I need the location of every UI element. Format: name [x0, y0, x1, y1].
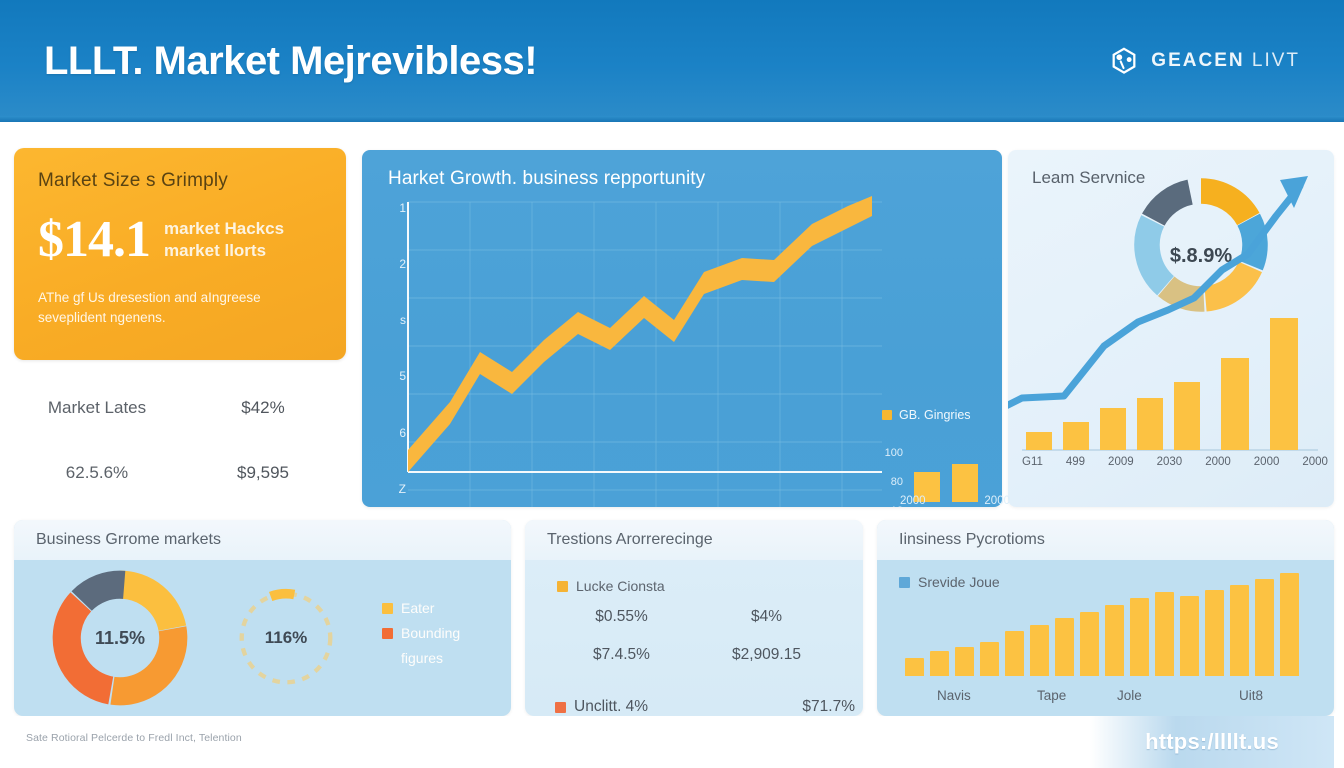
growth-bars-trendline-chart	[1008, 150, 1334, 507]
footer-url-text: https:/llllt.us	[1145, 729, 1279, 755]
stat-value-1: $9,595	[180, 463, 346, 483]
projections-bar-group-left	[905, 576, 1174, 676]
brand-primary: GEACEN	[1151, 50, 1244, 71]
projections-bar-3	[980, 642, 999, 676]
kpi-subtext-line-1: market Hackcs	[164, 218, 284, 240]
transactions-value-0: $0.55%	[595, 608, 648, 626]
kpi-subtext: market Hackcs market llorts	[164, 218, 284, 263]
page-header: LLLT. Market Mejrevibless! GEACEN LIVT	[0, 0, 1344, 122]
business-growth-legend: Eater Bounding figures	[382, 600, 460, 666]
y-tick-5: Z	[399, 483, 406, 495]
projections-card: Iinsiness Pycrotioms Srevide Joue	[877, 520, 1334, 716]
y-tick-1: 2	[399, 258, 406, 270]
transactions-card-body: Lucke Cionsta $0.55% $4% $7.4.5% $2,909.…	[525, 560, 863, 716]
projections-bar-9	[1130, 598, 1149, 676]
projections-bar-14	[1230, 585, 1249, 676]
legend-item-eater[interactable]: Eater	[382, 600, 460, 616]
projections-card-body: Srevide Joue	[877, 560, 1334, 716]
kpi-description: AThe gf Us dresestion and aIngreese seve…	[38, 288, 322, 327]
legend-label-bounding: Bounding	[401, 625, 460, 641]
brand-secondary: LIVT	[1252, 50, 1300, 71]
projections-bar-16	[1280, 573, 1299, 676]
stat-value-0: $42%	[180, 398, 346, 418]
legend-label-eater: Eater	[401, 600, 434, 616]
legend-swatch-eater-icon	[382, 603, 393, 614]
projections-x-tick-3: Uit8	[1239, 688, 1263, 703]
legend-swatch-icon	[882, 410, 892, 420]
projections-bar-5	[1030, 625, 1049, 676]
projections-bar-4	[1005, 631, 1024, 676]
projections-bar-15	[1255, 579, 1274, 676]
transactions-legend-swatch-icon	[557, 581, 568, 592]
inset-y-tick-0: 100	[885, 448, 903, 459]
projections-bar-13	[1205, 590, 1224, 676]
transactions-legend-item[interactable]: Lucke Cionsta	[557, 578, 665, 594]
bar-x-tick-5: 2030	[1157, 456, 1183, 468]
business-growth-donut-center-label: 11.5%	[46, 628, 194, 649]
inset-y-axis: 100 80 12 10 4 8 0	[867, 448, 903, 507]
stat-label-1: 62.5.6%	[14, 463, 180, 483]
growth-bars-overflow-labels: 2000 2000	[900, 495, 1010, 507]
y-tick-3: 5	[399, 370, 406, 382]
transactions-footer-legend[interactable]: Unclitt. 4%	[555, 698, 648, 716]
infographic-page: LLLT. Market Mejrevibless! GEACEN LIVT M…	[0, 0, 1344, 768]
legend-item-figures: figures	[382, 650, 460, 666]
market-size-kpi-card: Market Size s Grimply $14.1 market Hackc…	[14, 148, 346, 360]
transactions-footer-value: $71.7%	[802, 698, 855, 716]
transactions-value-2: $7.4.5%	[593, 646, 650, 664]
page-footer: Sate Rotioral Pelcerde to Fredl Inct, Te…	[0, 716, 1344, 768]
projections-x-tick-0: Navis	[937, 688, 971, 703]
footer-note: Sate Rotioral Pelcerde to Fredl Inct, Te…	[26, 732, 242, 744]
projections-bar-0	[905, 658, 924, 676]
legend-label-figures: figures	[401, 650, 443, 666]
projections-bar-6	[1055, 618, 1074, 676]
business-growth-card: Business Grrome markets 11.5% 116%	[14, 520, 511, 716]
bar-x-tick-2: G11	[1022, 456, 1043, 468]
market-growth-y-axis: 1 2 s 5 6 Z 8 0	[380, 202, 406, 507]
projections-bar-11	[1155, 603, 1174, 676]
y-tick-0: 1	[399, 202, 406, 214]
projections-x-axis: Navis Tape Jole Uit8	[909, 688, 1319, 704]
y-tick-2: s	[400, 314, 406, 326]
stat-label-0: Market Lates	[14, 398, 180, 418]
bar-x-tick-1: 2000	[984, 495, 1010, 507]
projections-x-tick-1: Tape	[1037, 688, 1066, 703]
projections-bar-2	[955, 647, 974, 676]
page-title: LLLT. Market Mejrevibless!	[44, 39, 537, 84]
brand-name: GEACEN LIVT	[1151, 50, 1300, 72]
transactions-footer-swatch-icon	[555, 702, 566, 713]
projections-bar-1	[930, 651, 949, 676]
transactions-value-3: $2,909.15	[732, 646, 801, 664]
transactions-footer-row: Unclitt. 4% $71.7%	[555, 698, 855, 716]
bar-x-tick-0: 2000	[900, 495, 926, 507]
projections-x-tick-2: Jole	[1117, 688, 1142, 703]
kpi-stat-grid: Market Lates $42% 62.5.6% $9,595	[14, 375, 346, 505]
bar-x-tick-6: 2000	[1205, 456, 1231, 468]
transactions-footer-label: Unclitt. 4%	[574, 698, 648, 716]
business-growth-ring-center-label: 116%	[232, 628, 340, 648]
projections-bar-7	[1080, 612, 1099, 676]
legend-swatch-bounding-icon	[382, 628, 393, 639]
bar-x-tick-8: 2000	[1302, 456, 1328, 468]
kpi-heading: Market Size s Grimply	[38, 170, 322, 192]
transactions-legend-label: Lucke Cionsta	[576, 578, 665, 594]
bar-x-tick-7: 2000	[1254, 456, 1280, 468]
transactions-card-title: Trestions Arorrerecinge	[525, 520, 863, 560]
brand-logo: GEACEN LIVT	[1109, 46, 1300, 76]
projections-bar-12	[1180, 596, 1199, 676]
business-growth-card-title: Business Grrome markets	[14, 520, 511, 560]
projections-bar-8	[1105, 605, 1124, 676]
leam-servnice-panel: Leam Servnice $.8.9%	[1008, 150, 1334, 507]
kpi-subtext-line-2: market llorts	[164, 240, 284, 262]
kpi-value: $14.1	[38, 214, 150, 266]
kpi-value-row: $14.1 market Hackcs market llorts	[38, 214, 322, 266]
bar-x-tick-4: 2009	[1108, 456, 1134, 468]
projections-bar-group-right	[1155, 576, 1299, 676]
projections-card-title: Iinsiness Pycrotioms	[877, 520, 1334, 560]
business-growth-card-body: 11.5% 116% Eater Bounding figures	[14, 560, 511, 716]
transactions-card: Trestions Arorrerecinge Lucke Cionsta $0…	[525, 520, 863, 716]
growth-bars-x-axis: G11 499 2009 2030 2000 2000 2000	[1016, 456, 1334, 468]
legend-item-bounding[interactable]: Bounding	[382, 625, 460, 641]
bar-x-tick-3: 499	[1066, 456, 1085, 468]
transactions-value-grid: $0.55% $4% $7.4.5% $2,909.15	[549, 608, 839, 664]
footer-url-badge[interactable]: https:/llllt.us	[1090, 716, 1334, 768]
transactions-value-1: $4%	[751, 608, 782, 626]
y-tick-4: 6	[399, 427, 406, 439]
hexagon-cube-icon	[1109, 46, 1139, 76]
